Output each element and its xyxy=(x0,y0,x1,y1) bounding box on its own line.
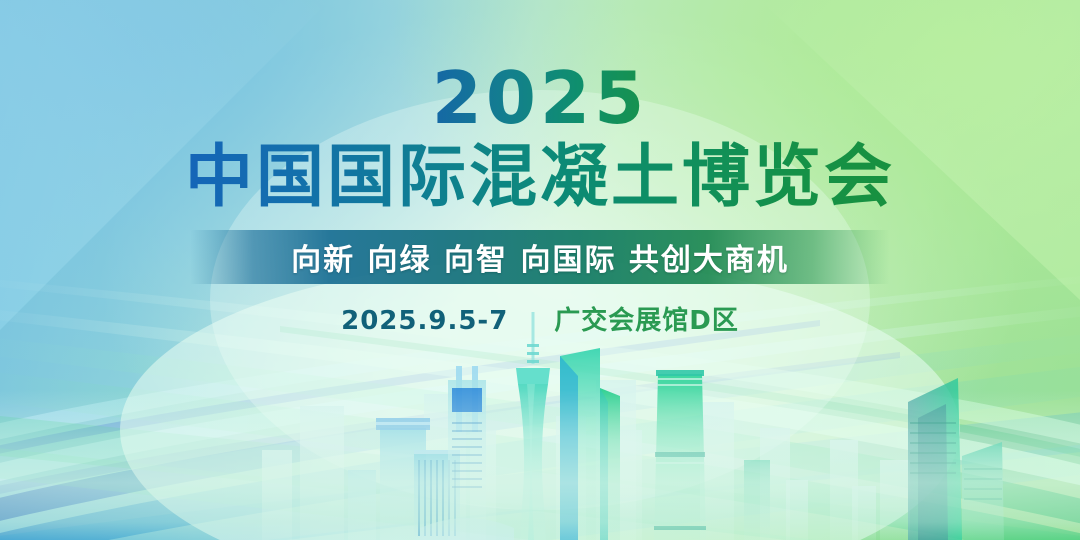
event-info-line: 2025.9.5-7 广交会展馆D区 xyxy=(341,300,739,337)
slogan-bar: 向新 向绿 向智 向国际 共创大商机 xyxy=(190,230,890,284)
page-title: 中国国际混凝土博览会 xyxy=(185,140,895,216)
poster-content: 2025 中国国际混凝土博览会 向新 向绿 向智 向国际 共创大商机 2025.… xyxy=(0,0,1080,540)
slogan-text: 向新 向绿 向智 向国际 共创大商机 xyxy=(291,235,789,279)
event-year: 2025 xyxy=(432,62,648,134)
event-venue: 广交会展馆D区 xyxy=(554,300,739,337)
event-poster: 2025 中国国际混凝土博览会 向新 向绿 向智 向国际 共创大商机 2025.… xyxy=(0,0,1080,540)
event-date: 2025.9.5-7 xyxy=(341,306,508,336)
